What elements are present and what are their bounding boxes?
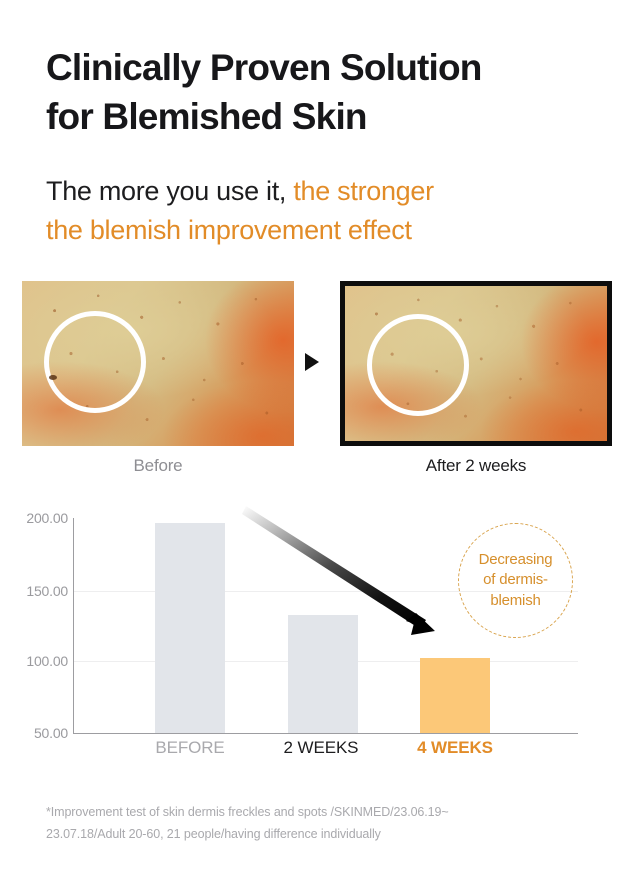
y-axis-label-100: 100.00	[2, 653, 68, 669]
x-axis-label-2-weeks: 2 WEEKS	[256, 738, 386, 758]
after-photo-caption: After 2 weeks	[340, 456, 612, 476]
highlight-circle-before-icon	[44, 311, 146, 413]
page-title-line-1: Clinically Proven Solution	[46, 44, 591, 93]
annotation-line-1: Decreasing	[479, 551, 553, 568]
y-axis-label-50: 50.00	[2, 725, 68, 741]
annotation-dashed-circle: Decreasing of dermis- blemish	[458, 523, 573, 638]
subheadline-accent-line-2: the blemish improvement effect	[46, 215, 412, 245]
subheadline: The more you use it, the stronger the bl…	[46, 172, 591, 249]
footnote-line-2: 23.07.18/Adult 20-60, 21 people/having d…	[46, 827, 381, 841]
annotation-line-3: blemish	[490, 592, 540, 609]
annotation-text: Decreasing of dermis- blemish	[479, 550, 553, 611]
footnote-line-1: *Improvement test of skin dermis freckle…	[46, 805, 449, 819]
annotation-line-2: of dermis-	[483, 571, 548, 588]
after-photo	[340, 281, 612, 446]
footnote: *Improvement test of skin dermis freckle…	[46, 802, 566, 846]
play-triangle-icon	[305, 353, 319, 371]
highlight-circle-after-icon	[367, 314, 469, 416]
page-title: Clinically Proven Solution for Blemished…	[46, 44, 591, 142]
y-axis-line	[73, 518, 74, 733]
bar-before	[155, 523, 225, 733]
x-axis-label-4-weeks: 4 WEEKS	[390, 738, 520, 758]
subheadline-accent-line-1: the stronger	[286, 176, 434, 206]
subheadline-plain-text: The more you use it,	[46, 176, 286, 206]
y-axis-label-200: 200.00	[2, 510, 68, 526]
before-photo	[22, 281, 294, 446]
bar-4-weeks	[420, 658, 490, 733]
bar-2-weeks	[288, 615, 358, 733]
x-axis-line	[73, 733, 578, 734]
before-photo-caption: Before	[22, 456, 294, 476]
y-axis-label-150: 150.00	[2, 583, 68, 599]
x-axis-label-before: BEFORE	[125, 738, 255, 758]
blemish-spot	[49, 375, 57, 380]
page-title-line-2: for Blemished Skin	[46, 93, 591, 142]
